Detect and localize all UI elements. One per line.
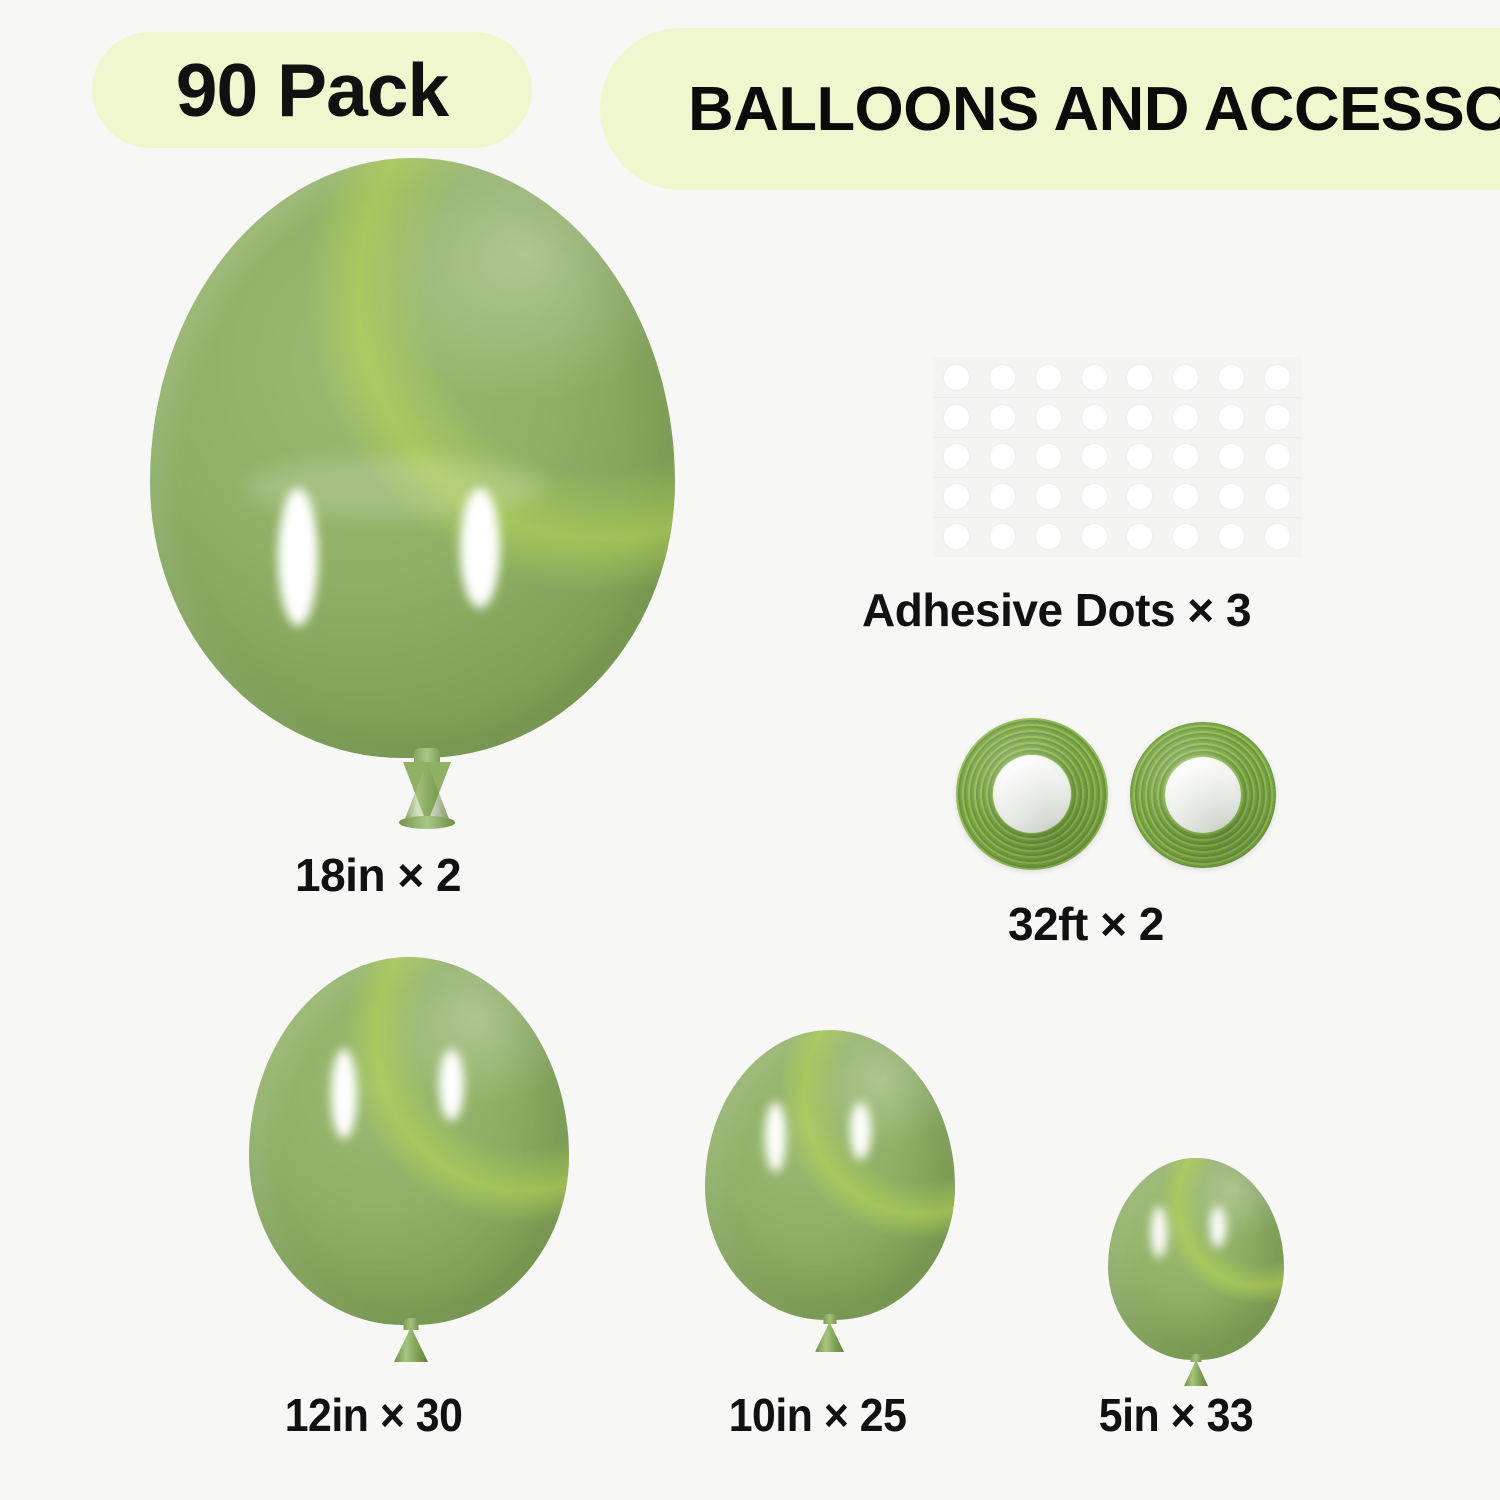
balloon-body xyxy=(705,1030,955,1320)
adhesive-dot xyxy=(1082,365,1107,390)
adhesive-dot xyxy=(1082,484,1107,509)
adhesive-dot xyxy=(1173,484,1198,509)
adhesive-dot xyxy=(1036,405,1061,430)
pack-count-label: 90 Pack xyxy=(176,53,448,128)
adhesive-dot xyxy=(1173,524,1198,549)
balloon-18in-label: 18in × 2 xyxy=(295,848,461,902)
adhesive-dot xyxy=(1082,444,1107,469)
adhesive-dots-label: Adhesive Dots × 3 xyxy=(862,583,1251,637)
adhesive-dot xyxy=(944,365,969,390)
balloon-10in-icon xyxy=(705,1030,955,1320)
adhesive-dot xyxy=(1219,524,1244,549)
adhesive-dot xyxy=(990,405,1015,430)
adhesive-dot xyxy=(1127,524,1152,549)
adhesive-dot xyxy=(944,484,969,509)
header-banner: BALLOONS AND ACCESSORIES xyxy=(600,28,1500,190)
adhesive-dot xyxy=(1265,444,1290,469)
balloon-18in-neck xyxy=(398,748,456,828)
balloon-5in-knot xyxy=(1184,1354,1208,1386)
adhesive-dot xyxy=(1036,365,1061,390)
balloon-18in-icon xyxy=(150,158,675,758)
adhesive-dot xyxy=(1265,484,1290,509)
adhesive-dot xyxy=(1173,405,1198,430)
ribbon-roll-icon xyxy=(1130,722,1276,868)
adhesive-dot xyxy=(944,444,969,469)
adhesive-dot xyxy=(1219,405,1244,430)
adhesive-dot xyxy=(1127,444,1152,469)
balloon-highlight-left xyxy=(331,1049,357,1139)
adhesive-dot xyxy=(944,405,969,430)
adhesive-dot xyxy=(1265,524,1290,549)
adhesive-dot xyxy=(1036,484,1061,509)
adhesive-dot xyxy=(1265,365,1290,390)
pack-count-badge: 90 Pack xyxy=(92,32,532,148)
adhesive-dot xyxy=(944,524,969,549)
balloon-highlight-left xyxy=(765,1102,786,1172)
ribbon-roll-label: 32ft × 2 xyxy=(1008,897,1164,951)
ribbon-core-hole xyxy=(993,755,1071,833)
balloon-gloss-sheen xyxy=(245,458,545,518)
adhesive-dot xyxy=(1219,484,1244,509)
balloon-body xyxy=(249,957,569,1325)
adhesive-dots-icon xyxy=(934,358,1300,556)
adhesive-dot xyxy=(1265,405,1290,430)
adhesive-dot xyxy=(1219,444,1244,469)
adhesive-dot xyxy=(990,444,1015,469)
balloon-highlight-right xyxy=(439,1049,464,1121)
adhesive-dot xyxy=(990,524,1015,549)
balloon-5in-label: 5in × 33 xyxy=(1099,1388,1253,1442)
adhesive-dot xyxy=(1173,365,1198,390)
ribbon-core-hole xyxy=(1165,757,1241,833)
balloon-10in-label: 10in × 25 xyxy=(729,1388,907,1442)
balloon-10in-knot xyxy=(815,1314,844,1352)
adhesive-dot xyxy=(990,365,1015,390)
dots-grid xyxy=(934,358,1300,556)
adhesive-dot xyxy=(1127,405,1152,430)
ribbon-roll-icon xyxy=(956,718,1108,870)
adhesive-dot xyxy=(1127,365,1152,390)
balloon-12in-icon xyxy=(249,957,569,1325)
balloon-12in-label: 12in × 30 xyxy=(285,1388,463,1442)
adhesive-dot xyxy=(1127,484,1152,509)
balloon-12in-knot xyxy=(394,1318,428,1362)
balloon-body xyxy=(1108,1158,1284,1360)
balloon-highlight-left xyxy=(1151,1206,1167,1258)
adhesive-dot xyxy=(1173,444,1198,469)
adhesive-dot xyxy=(1036,444,1061,469)
header-banner-title: BALLOONS AND ACCESSORIES xyxy=(688,74,1500,145)
adhesive-dot xyxy=(1082,405,1107,430)
infographic-canvas: 90 Pack BALLOONS AND ACCESSORIES 18in × … xyxy=(0,0,1500,1500)
balloon-5in-icon xyxy=(1108,1158,1284,1360)
adhesive-dot xyxy=(1219,365,1244,390)
adhesive-dot xyxy=(1036,524,1061,549)
adhesive-dot xyxy=(1082,524,1107,549)
balloon-highlight-right xyxy=(1210,1206,1226,1248)
adhesive-dot xyxy=(990,484,1015,509)
balloon-highlight-right xyxy=(850,1102,871,1160)
